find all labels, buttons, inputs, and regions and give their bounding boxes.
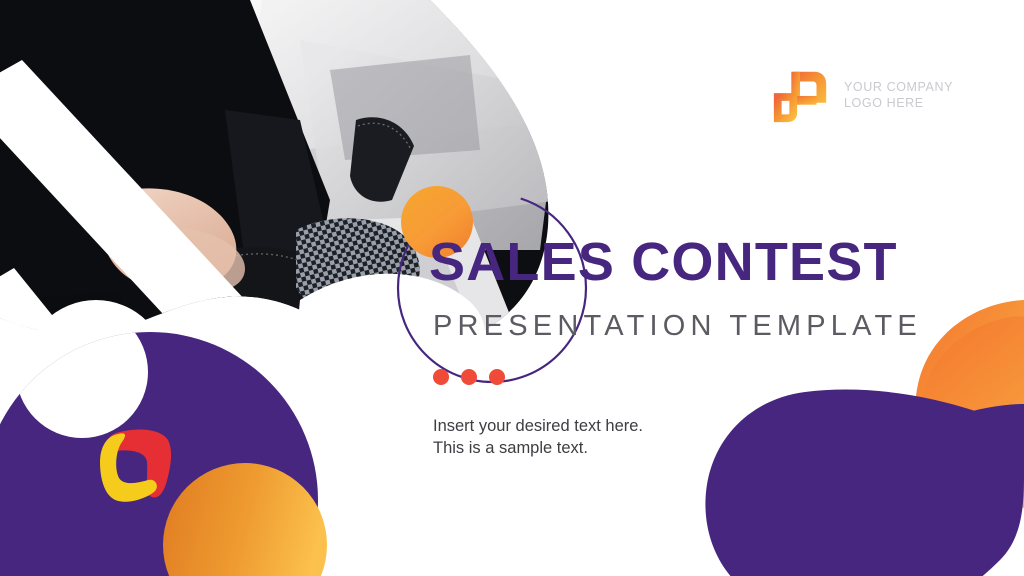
divider-dot [433, 369, 449, 385]
body-text: Insert your desired text here. This is a… [433, 415, 949, 459]
company-logo-text: YOUR COMPANY LOGO HERE [844, 79, 953, 111]
divider-dots [433, 369, 949, 385]
company-logo-block[interactable]: YOUR COMPANY LOGO HERE [770, 64, 953, 126]
page-subtitle: PRESENTATION TEMPLATE [433, 312, 949, 341]
divider-dot [489, 369, 505, 385]
divider-dot [461, 369, 477, 385]
presentation-slide: YOUR COMPANY LOGO HERE SALES CONTEST PRE… [0, 0, 1024, 576]
company-logo-mark [770, 64, 832, 126]
bottom-left-purple-circle [0, 332, 318, 576]
title-block: SALES CONTEST PRESENTATION TEMPLATE Inse… [429, 234, 949, 459]
brushstroke-square-logo [100, 429, 171, 501]
photo-circle-ring [24, 300, 168, 444]
page-title: SALES CONTEST [429, 234, 949, 290]
bottom-left-orange-circle [163, 463, 327, 576]
